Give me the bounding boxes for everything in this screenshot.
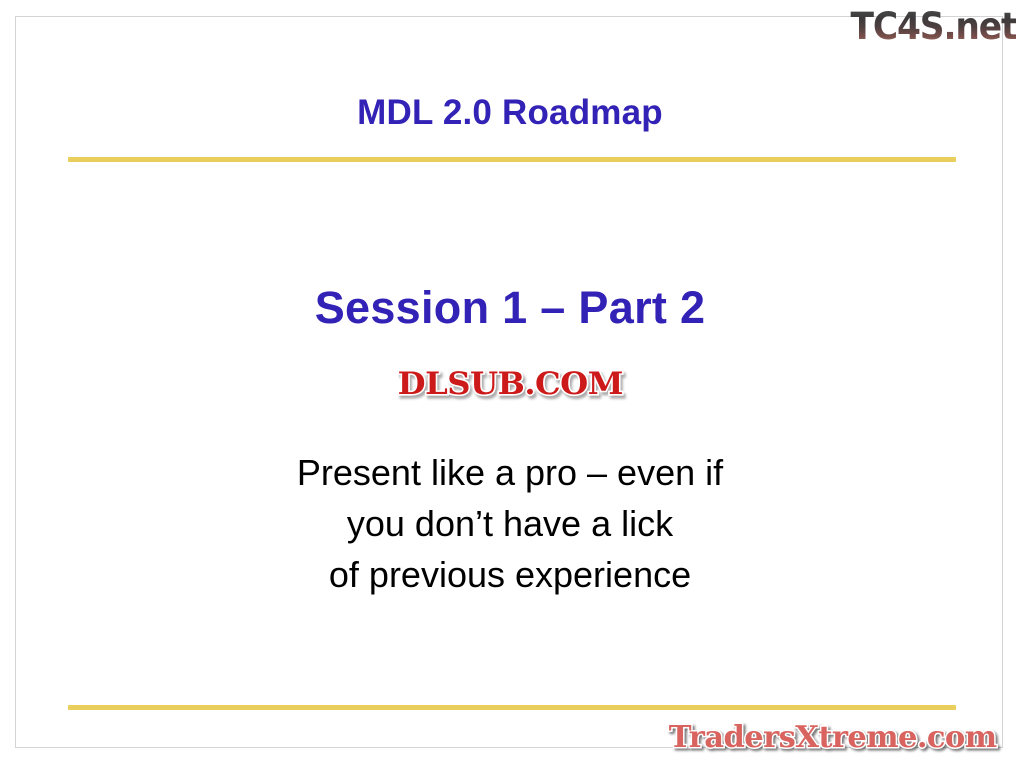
page-title: MDL 2.0 Roadmap: [16, 93, 1004, 133]
dlsub-watermark-text: DLSUB.COM: [397, 369, 622, 400]
dlsub-watermark: DLSUB.COM: [16, 369, 1004, 415]
body-text-line-1: Present like a pro – even if: [16, 447, 1004, 498]
slide-canvas: MDL 2.0 Roadmap Session 1 – Part 2 DLSUB…: [15, 16, 1003, 748]
tradersxtreme-watermark-text: TradersXtreme.com: [669, 723, 997, 753]
session-heading: Session 1 – Part 2: [16, 282, 1004, 334]
tc4s-watermark-text: TC4S.net: [850, 8, 1016, 45]
body-text-line-2: you don’t have a lick: [16, 498, 1004, 549]
tc4s-watermark: TC4S.net: [826, 2, 1016, 50]
divider-bottom: [68, 705, 956, 710]
body-text: Present like a pro – even if you don’t h…: [16, 447, 1004, 600]
divider-top: [68, 157, 956, 162]
body-text-line-3: of previous experience: [16, 549, 1004, 600]
tradersxtreme-watermark: TradersXtreme.com: [672, 716, 1024, 760]
